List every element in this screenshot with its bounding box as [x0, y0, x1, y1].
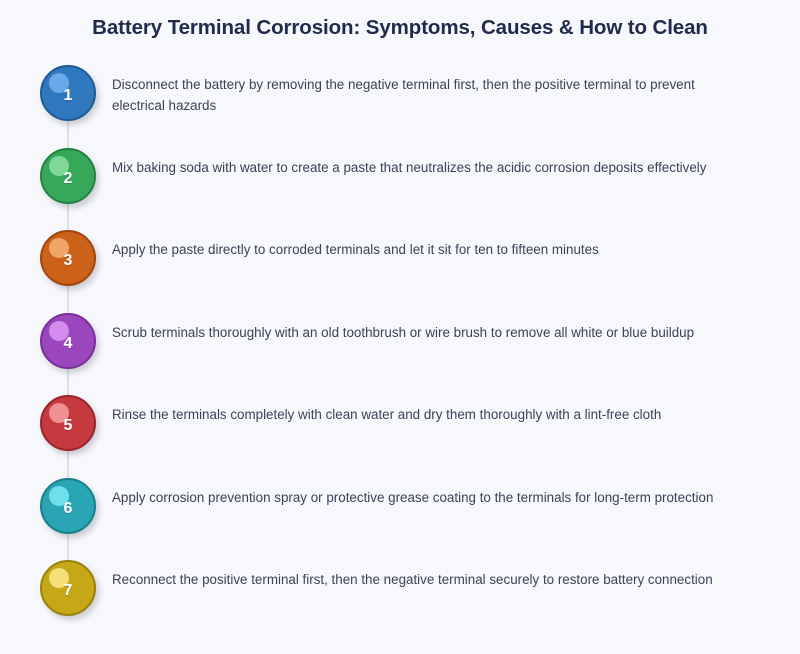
step-item: 7 Reconnect the positive terminal first,…: [0, 557, 800, 640]
step-badge-7[interactable]: 7: [40, 560, 96, 616]
step-number-1: 1: [64, 88, 73, 104]
step-text-5: Rinse the terminals completely with clea…: [112, 404, 720, 425]
step-number-2: 2: [64, 171, 73, 187]
step-number-7: 7: [64, 583, 73, 599]
step-item: 1 Disconnect the battery by removing the…: [0, 62, 800, 145]
step-text-4: Scrub terminals thoroughly with an old t…: [112, 322, 720, 343]
page-title: Battery Terminal Corrosion: Symptoms, Ca…: [0, 14, 800, 42]
infographic-root: Battery Terminal Corrosion: Symptoms, Ca…: [0, 0, 800, 654]
step-number-3: 3: [64, 253, 73, 269]
step-number-4: 4: [64, 336, 73, 352]
step-badge-6[interactable]: 6: [40, 478, 96, 534]
step-item: 6 Apply corrosion prevention spray or pr…: [0, 475, 800, 558]
step-item: 4 Scrub terminals thoroughly with an old…: [0, 310, 800, 393]
step-item: 2 Mix baking soda with water to create a…: [0, 145, 800, 228]
step-badge-2[interactable]: 2: [40, 148, 96, 204]
step-text-7: Reconnect the positive terminal first, t…: [112, 569, 720, 590]
step-number-5: 5: [64, 418, 73, 434]
step-badge-5[interactable]: 5: [40, 395, 96, 451]
step-item: 5 Rinse the terminals completely with cl…: [0, 392, 800, 475]
step-badge-3[interactable]: 3: [40, 230, 96, 286]
step-number-6: 6: [64, 501, 73, 517]
steps-list: 1 Disconnect the battery by removing the…: [0, 62, 800, 640]
step-badge-4[interactable]: 4: [40, 313, 96, 369]
step-text-6: Apply corrosion prevention spray or prot…: [112, 487, 720, 508]
step-text-3: Apply the paste directly to corroded ter…: [112, 239, 720, 260]
step-text-1: Disconnect the battery by removing the n…: [112, 74, 720, 116]
step-item: 3 Apply the paste directly to corroded t…: [0, 227, 800, 310]
step-text-2: Mix baking soda with water to create a p…: [112, 157, 720, 178]
step-badge-1[interactable]: 1: [40, 65, 96, 121]
